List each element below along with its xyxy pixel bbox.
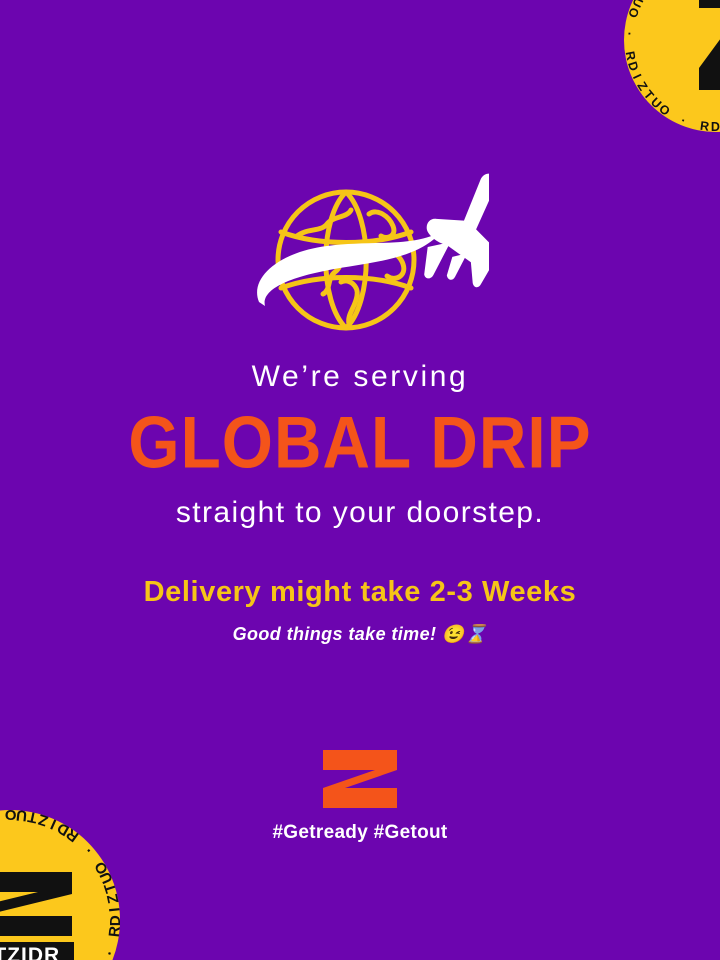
- main-copy-block: We’re serving GLOBAL DRIP straight to yo…: [0, 360, 720, 645]
- z-logo-icon: [695, 0, 720, 92]
- eyebrow-text: We’re serving: [0, 360, 720, 393]
- z-logo-icon: [0, 870, 74, 938]
- poster-canvas: OUTZIDR · OUTZIDR · OUTZIDR · OUTZIDR · …: [0, 0, 720, 960]
- delivery-note-text: Delivery might take 2-3 Weeks: [0, 577, 720, 609]
- tagline-text: Good things take time! 😉⌛: [0, 625, 720, 645]
- page-title: GLOBAL DRIP: [0, 405, 720, 482]
- badge-wordmark: OUTZIDR: [0, 942, 74, 960]
- z-logo-icon: [321, 748, 399, 810]
- footer-brand-block: #Getready #Getout: [0, 748, 720, 844]
- badge-mark-top-right: [695, 0, 720, 92]
- badge-ring-char: Z: [104, 891, 123, 905]
- subline-text: straight to your doorstep.: [0, 496, 720, 529]
- badge-ring-char: ·: [622, 31, 636, 37]
- brand-badge-top-right: OUTZIDR · OUTZIDR · OUTZIDR · OUTZIDR · …: [624, 0, 720, 132]
- badge-ring-char: I: [106, 905, 123, 912]
- badge-ring-char: R: [106, 924, 124, 938]
- hashtags-text: #Getready #Getout: [0, 822, 720, 844]
- globe-airplane-illustration: [231, 170, 489, 350]
- badge-mark-bottom-left: OUTZIDR: [0, 870, 74, 960]
- badge-ring-char: ·: [101, 947, 119, 958]
- badge-ring-char: D: [711, 120, 720, 134]
- badge-ring-char: ·: [679, 113, 689, 128]
- badge-ring-char: R: [699, 119, 711, 134]
